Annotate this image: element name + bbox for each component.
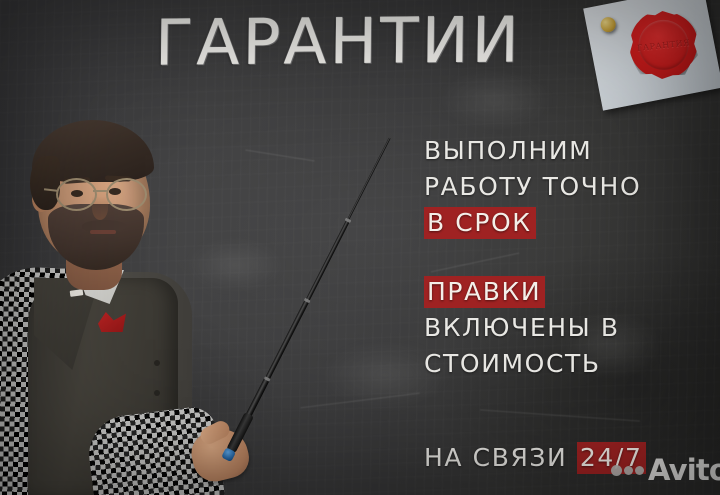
advertisement-banner: ГАРАНТИИ ГАРАНТИЯ — [0, 0, 720, 495]
board-vignette — [0, 0, 720, 495]
